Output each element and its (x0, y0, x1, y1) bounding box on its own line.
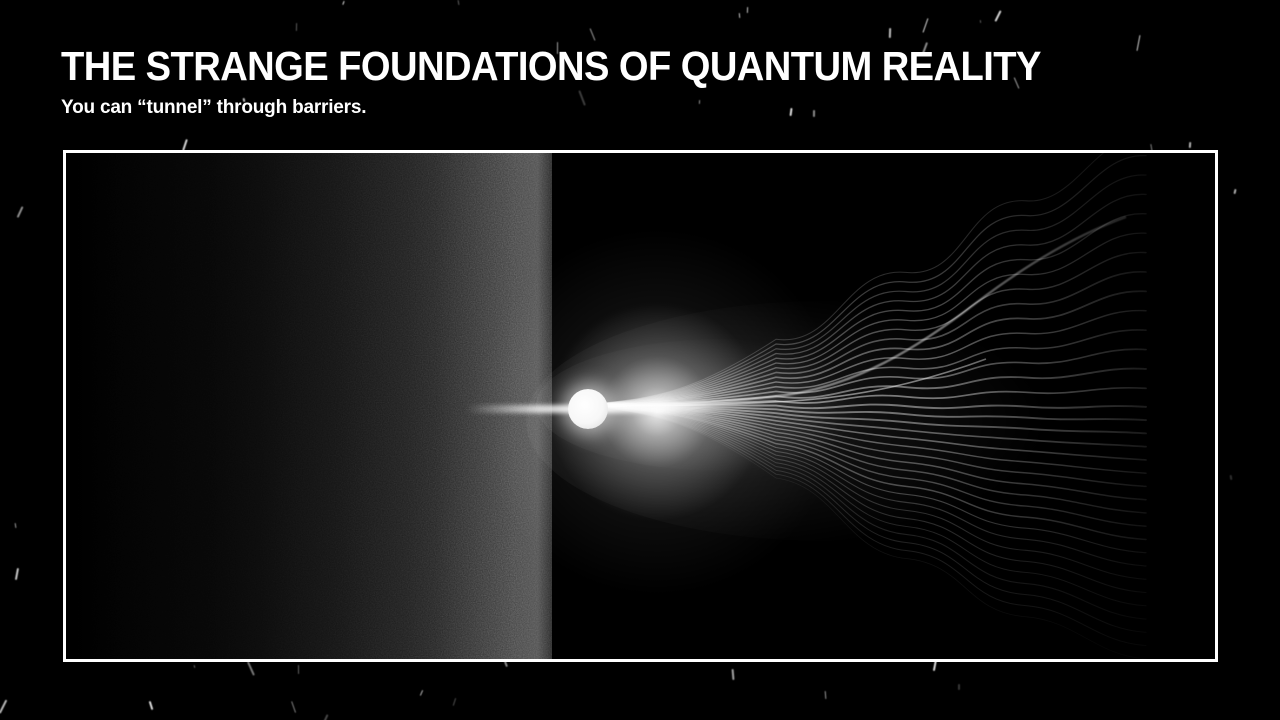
dust-speck (1188, 141, 1190, 148)
dust-speck (419, 690, 423, 696)
dust-speck (183, 139, 189, 151)
dust-speck (738, 13, 740, 18)
dust-speck (296, 23, 297, 31)
dust-speck (194, 665, 196, 669)
page-subtitle: You can “tunnel” through barriers. (61, 96, 1115, 120)
dust-speck (321, 714, 328, 720)
header-block: THE STRANGE FOUNDATIONS OF QUANTUM REALI… (61, 44, 1115, 120)
page-title: THE STRANGE FOUNDATIONS OF QUANTUM REALI… (61, 44, 1041, 88)
dust-speck (732, 669, 735, 680)
dust-speck (15, 523, 17, 528)
dust-speck (922, 18, 928, 32)
dust-speck (457, 0, 459, 5)
dust-speck (747, 7, 748, 13)
dust-speck (994, 10, 1001, 22)
dust-speck (291, 701, 296, 712)
dust-speck (590, 28, 596, 40)
dust-speck (889, 28, 891, 38)
dust-speck (1150, 143, 1152, 151)
dust-speck (958, 684, 960, 690)
dust-speck (343, 1, 346, 5)
dust-speck (504, 661, 508, 668)
dust-speck (980, 20, 982, 24)
quantum-tunneling-illustration (66, 153, 1215, 659)
dust-speck (148, 701, 152, 710)
dust-speck (1137, 35, 1141, 51)
dust-speck (1230, 475, 1232, 481)
dust-speck (247, 661, 255, 676)
dust-speck (933, 659, 937, 671)
dust-speck (298, 665, 299, 674)
dust-speck (16, 206, 23, 218)
dust-speck (453, 698, 457, 706)
dust-speck (1233, 188, 1236, 193)
dust-speck (0, 699, 7, 713)
slide-canvas: THE STRANGE FOUNDATIONS OF QUANTUM REALI… (0, 0, 1280, 720)
dust-speck (825, 691, 827, 699)
glowing-particle (568, 389, 608, 429)
dust-speck (15, 568, 19, 580)
